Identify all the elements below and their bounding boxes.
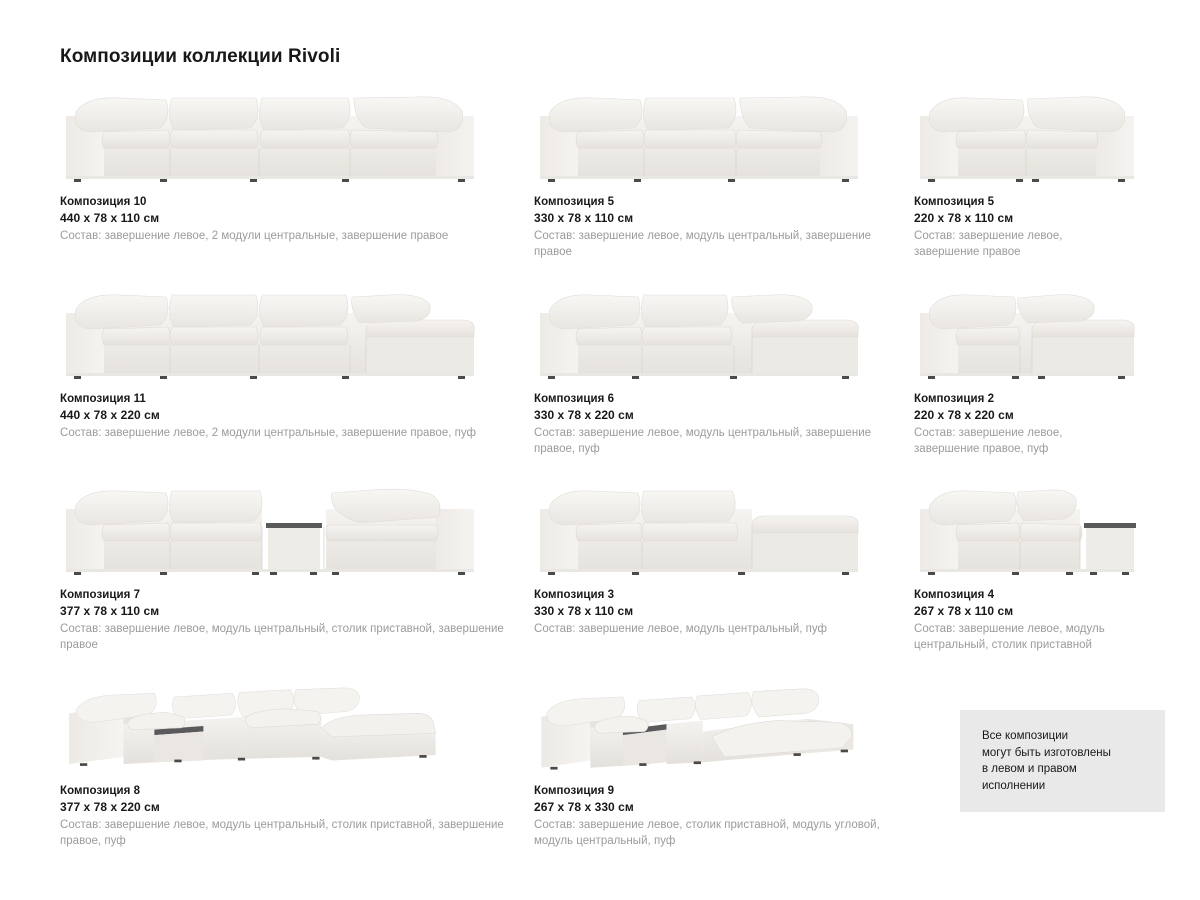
composition-card-composition-5-220[interactable]: Композиция 5 220 x 78 x 110 см Состав: з…	[914, 88, 1140, 260]
composition-caption: Композиция 11 440 x 78 x 220 см Состав: …	[60, 391, 534, 441]
composition-caption: Композиция 5 330 x 78 x 110 см Состав: з…	[534, 194, 914, 260]
composition-description: Состав: завершение левое, завершение пра…	[914, 228, 1124, 260]
composition-name: Композиция 8	[60, 783, 518, 799]
composition-card-composition-7[interactable]: Композиция 7 377 x 78 x 110 см Состав: з…	[60, 481, 534, 653]
composition-card-composition-6[interactable]: Композиция 6 330 x 78 x 220 см Состав: з…	[534, 285, 914, 457]
composition-description: Состав: завершение левое, модуль централ…	[534, 621, 898, 637]
composition-caption: Композиция 5 220 x 78 x 110 см Состав: з…	[914, 194, 1140, 260]
composition-description: Состав: завершение левое, модуль централ…	[60, 817, 518, 849]
composition-card-composition-2[interactable]: Композиция 2 220 x 78 x 220 см Состав: з…	[914, 285, 1140, 457]
composition-name: Композиция 9	[534, 783, 898, 799]
composition-dimensions: 220 x 78 x 110 см	[914, 210, 1124, 227]
composition-dimensions: 330 x 78 x 110 см	[534, 603, 898, 620]
composition-description: Состав: завершение левое, 2 модули центр…	[60, 228, 518, 244]
composition-dimensions: 377 x 78 x 220 см	[60, 799, 518, 816]
composition-description: Состав: завершение левое, завершение пра…	[914, 425, 1124, 457]
sofa-illustration-composition-7	[60, 481, 534, 579]
sofa-illustration-composition-11	[60, 285, 534, 383]
side-table-top	[1084, 523, 1136, 528]
sofa-illustration-composition-3	[534, 481, 914, 579]
composition-description: Состав: завершение левое, модуль централ…	[914, 621, 1124, 653]
side-table-top	[266, 523, 322, 528]
composition-name: Композиция 6	[534, 391, 898, 407]
composition-caption: Композиция 7 377 x 78 x 110 см Состав: з…	[60, 587, 534, 653]
composition-card-composition-4[interactable]: Композиция 4 267 x 78 x 110 см Состав: з…	[914, 481, 1140, 653]
composition-card-composition-8[interactable]: Композиция 8 377 x 78 x 220 см Состав: з…	[60, 677, 534, 849]
composition-dimensions: 267 x 78 x 110 см	[914, 603, 1124, 620]
sofa-illustration-composition-2	[914, 285, 1140, 383]
composition-description: Состав: завершение левое, модуль централ…	[534, 228, 898, 260]
composition-dimensions: 330 x 78 x 110 см	[534, 210, 898, 227]
composition-card-composition-9[interactable]: Композиция 9 267 x 78 x 330 см Состав: з…	[534, 677, 914, 849]
composition-card-composition-5-330[interactable]: Композиция 5 330 x 78 x 110 см Состав: з…	[534, 88, 914, 260]
sofa-illustration-composition-4	[914, 481, 1140, 579]
composition-description: Состав: завершение левое, 2 модули центр…	[60, 425, 518, 441]
composition-name: Композиция 3	[534, 587, 898, 603]
catalog-page: Композиции коллекции Rivoli	[0, 0, 1200, 900]
composition-caption: Композиция 9 267 x 78 x 330 см Состав: з…	[534, 783, 914, 849]
composition-card-composition-10[interactable]: Композиция 10 440 x 78 x 110 см Состав: …	[60, 88, 534, 244]
composition-caption: Композиция 10 440 x 78 x 110 см Состав: …	[60, 194, 534, 244]
sofa-illustration-composition-8	[60, 677, 534, 775]
composition-dimensions: 267 x 78 x 330 см	[534, 799, 898, 816]
composition-card-composition-3[interactable]: Композиция 3 330 x 78 x 110 см Состав: з…	[534, 481, 914, 637]
composition-description: Состав: завершение левое, модуль централ…	[534, 425, 898, 457]
composition-row: Композиция 11 440 x 78 x 220 см Состав: …	[60, 285, 1140, 481]
composition-name: Композиция 2	[914, 391, 1124, 407]
info-note-box: Все композиции могут быть изготовлены в …	[960, 710, 1165, 812]
composition-dimensions: 440 x 78 x 110 см	[60, 210, 518, 227]
composition-caption: Композиция 2 220 x 78 x 220 см Состав: з…	[914, 391, 1140, 457]
composition-dimensions: 330 x 78 x 220 см	[534, 407, 898, 424]
composition-caption: Композиция 6 330 x 78 x 220 см Состав: з…	[534, 391, 914, 457]
composition-description: Состав: завершение левое, модуль централ…	[60, 621, 518, 653]
composition-caption: Композиция 4 267 x 78 x 110 см Состав: з…	[914, 587, 1140, 653]
composition-row: Композиция 10 440 x 78 x 110 см Состав: …	[60, 88, 1140, 285]
page-title: Композиции коллекции Rivoli	[60, 46, 340, 68]
composition-name: Композиция 7	[60, 587, 518, 603]
composition-name: Композиция 5	[914, 194, 1124, 210]
sofa-illustration-composition-5-220	[914, 88, 1140, 186]
info-note-text: Все композиции могут быть изготовлены в …	[960, 728, 1111, 794]
composition-dimensions: 440 x 78 x 220 см	[60, 407, 518, 424]
composition-caption: Композиция 3 330 x 78 x 110 см Состав: з…	[534, 587, 914, 637]
composition-caption: Композиция 8 377 x 78 x 220 см Состав: з…	[60, 783, 534, 849]
sofa-illustration-composition-10	[60, 88, 534, 186]
composition-dimensions: 377 x 78 x 110 см	[60, 603, 518, 620]
composition-row: Композиция 7 377 x 78 x 110 см Состав: з…	[60, 481, 1140, 677]
composition-description: Состав: завершение левое, столик пристав…	[534, 817, 898, 849]
composition-dimensions: 220 x 78 x 220 см	[914, 407, 1124, 424]
composition-card-composition-11[interactable]: Композиция 11 440 x 78 x 220 см Состав: …	[60, 285, 534, 441]
composition-name: Композиция 11	[60, 391, 518, 407]
sofa-illustration-composition-5-330	[534, 88, 914, 186]
composition-name: Композиция 10	[60, 194, 518, 210]
sofa-illustration-composition-9	[534, 677, 914, 775]
composition-name: Композиция 5	[534, 194, 898, 210]
sofa-illustration-composition-6	[534, 285, 914, 383]
composition-name: Композиция 4	[914, 587, 1124, 603]
